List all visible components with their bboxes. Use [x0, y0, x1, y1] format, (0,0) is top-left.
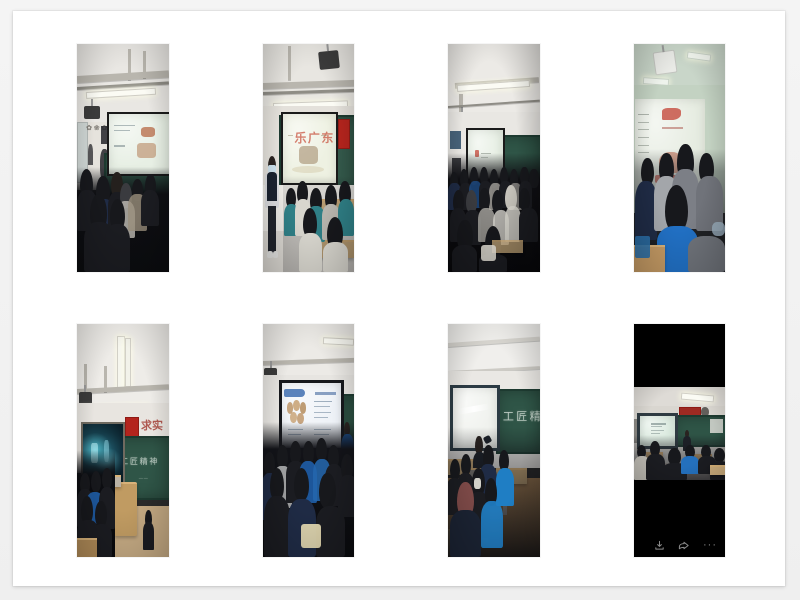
ceiling-hanger — [128, 49, 131, 81]
projector — [318, 50, 340, 70]
classroom-scene-7: 工匠精神 — [448, 324, 540, 557]
photo-thumbnail[interactable]: Wide view of a lecture hall with a lit p… — [448, 44, 540, 272]
photo-grid: ✿ ❀ ✿ ❀ — [37, 28, 765, 573]
classroom-scene-6 — [263, 324, 355, 557]
notebook — [481, 245, 496, 261]
wall-monitor — [450, 131, 461, 149]
classroom-scene-2: 乐广东 — [263, 44, 355, 272]
classroom-scene-8 — [634, 387, 726, 480]
gallery-page: Classroom Lecture Photo Collage ✿ ❀ ✿ ❀ — [0, 0, 800, 600]
desk-item — [712, 222, 725, 236]
slide-banner — [284, 389, 305, 397]
cup — [474, 478, 481, 490]
ellipsis-icon[interactable]: ··· — [703, 540, 717, 551]
classroom-scene-5: 求实 工匠精神 —— — [77, 324, 169, 557]
red-banner — [338, 119, 351, 148]
projection-screen: 乐广东 — [281, 112, 338, 184]
wall-text: 求实 — [141, 417, 163, 433]
presenter-legs — [268, 206, 276, 256]
shoe — [273, 251, 278, 258]
red-banner — [125, 417, 140, 438]
student-desk — [77, 538, 97, 557]
wall-decoration — [88, 144, 93, 165]
presenter-vest — [267, 172, 277, 202]
photo-thumbnail[interactable]: Students in blue uniforms viewing a Powe… — [263, 324, 355, 557]
share-icon[interactable] — [678, 540, 690, 551]
blackboard-text: 工匠精神 — [120, 456, 159, 467]
fluorescent-light — [125, 338, 132, 387]
classroom-scene-3 — [448, 44, 540, 272]
classroom-scene-1: ✿ ❀ ✿ ❀ — [77, 44, 169, 272]
photo-thumbnail[interactable]: ✿ ❀ ✿ ❀ — [77, 44, 169, 272]
classroom-scene-4 — [634, 44, 726, 272]
blackboard-text: 工匠精神 — [503, 408, 540, 424]
podium — [114, 482, 138, 535]
video-frame — [634, 387, 726, 480]
photo-thumbnail[interactable]: Close view from behind students watching… — [634, 44, 726, 272]
video-control-bar[interactable]: ··· — [654, 540, 717, 551]
textbook — [635, 236, 650, 259]
photo-thumbnail[interactable]: 乐广东 — [263, 44, 355, 272]
student-desk — [710, 465, 725, 474]
projector — [84, 106, 100, 120]
photo-thumbnail[interactable]: 求实 工匠精神 —— — [77, 324, 169, 557]
download-icon[interactable] — [654, 540, 665, 551]
page-title: Classroom Lecture Photo Collage — [13, 32, 14, 33]
projector — [652, 49, 677, 74]
video-letterbox: ··· — [634, 324, 726, 557]
screen-text: 乐广东 — [294, 129, 334, 146]
photo-card: Classroom Lecture Photo Collage ✿ ❀ ✿ ❀ — [13, 11, 785, 586]
student-desk — [492, 240, 523, 253]
notebook — [301, 524, 321, 547]
photo-thumbnail-video[interactable]: ··· Letterboxed video still of a classro… — [634, 324, 726, 557]
photo-thumbnail[interactable]: 工匠精神 — [448, 324, 540, 557]
wall-poster — [710, 419, 723, 434]
ceiling-hanger — [143, 51, 146, 78]
shoe — [267, 251, 272, 258]
